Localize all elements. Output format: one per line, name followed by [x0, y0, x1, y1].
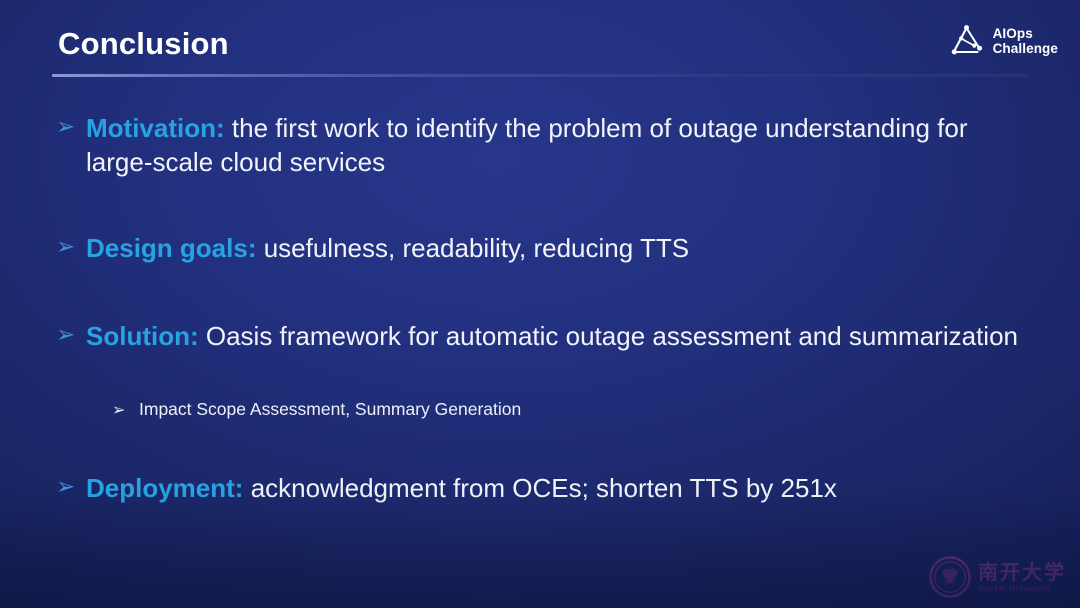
bullet-text: Oasis framework for automatic outage ass… — [199, 321, 1018, 351]
slide-canvas: Conclusion AIOps Challenge ➢ Motivation: — [0, 0, 1080, 608]
nankai-university-wordmark: 南开大学 Nankai University — [978, 562, 1066, 593]
bullet-content: Motivation: the first work to identify t… — [86, 112, 1020, 180]
aiops-challenge-logo: AIOps Challenge — [950, 24, 1058, 58]
aiops-logo-line2: Challenge — [993, 41, 1058, 56]
aiops-network-triangle-icon — [950, 24, 986, 58]
page-title: Conclusion — [58, 26, 229, 62]
aiops-logo-wordmark: AIOps Challenge — [993, 26, 1058, 56]
bullet-label: Solution: — [86, 321, 199, 351]
bullet-label: Motivation: — [86, 113, 225, 143]
bullet-item-motivation: ➢ Motivation: the first work to identify… — [56, 112, 1020, 180]
bullet-label: Deployment: — [86, 473, 243, 503]
nankai-name-english: Nankai University — [978, 585, 1066, 593]
title-divider — [52, 74, 1028, 77]
bullet-arrow-icon: ➢ — [56, 113, 86, 143]
bullet-text: usefulness, readability, reducing TTS — [256, 233, 689, 263]
aiops-logo-line1: AIOps — [993, 26, 1058, 41]
bullet-arrow-icon: ➢ — [56, 233, 86, 263]
nankai-name-chinese: 南开大学 — [978, 562, 1066, 582]
nankai-university-watermark: 南开大学 Nankai University — [929, 556, 1066, 598]
bullet-item-solution: ➢ Solution: Oasis framework for automati… — [56, 320, 1020, 354]
sub-bullet-item-components: ➢ Impact Scope Assessment, Summary Gener… — [112, 398, 521, 421]
bullet-label: Design goals: — [86, 233, 256, 263]
nankai-university-seal-icon — [929, 556, 971, 598]
sub-bullet-arrow-icon: ➢ — [112, 399, 139, 420]
bullet-arrow-icon: ➢ — [56, 473, 86, 503]
bullet-content: Solution: Oasis framework for automatic … — [86, 320, 1020, 354]
bullet-item-design-goals: ➢ Design goals: usefulness, readability,… — [56, 232, 1020, 266]
bullet-content: Design goals: usefulness, readability, r… — [86, 232, 1020, 266]
bullet-text: acknowledgment from OCEs; shorten TTS by… — [243, 473, 836, 503]
bullet-arrow-icon: ➢ — [56, 321, 86, 351]
sub-bullet-text: Impact Scope Assessment, Summary Generat… — [139, 398, 521, 421]
bullet-item-deployment: ➢ Deployment: acknowledgment from OCEs; … — [56, 472, 1020, 506]
bullet-content: Deployment: acknowledgment from OCEs; sh… — [86, 472, 1020, 506]
